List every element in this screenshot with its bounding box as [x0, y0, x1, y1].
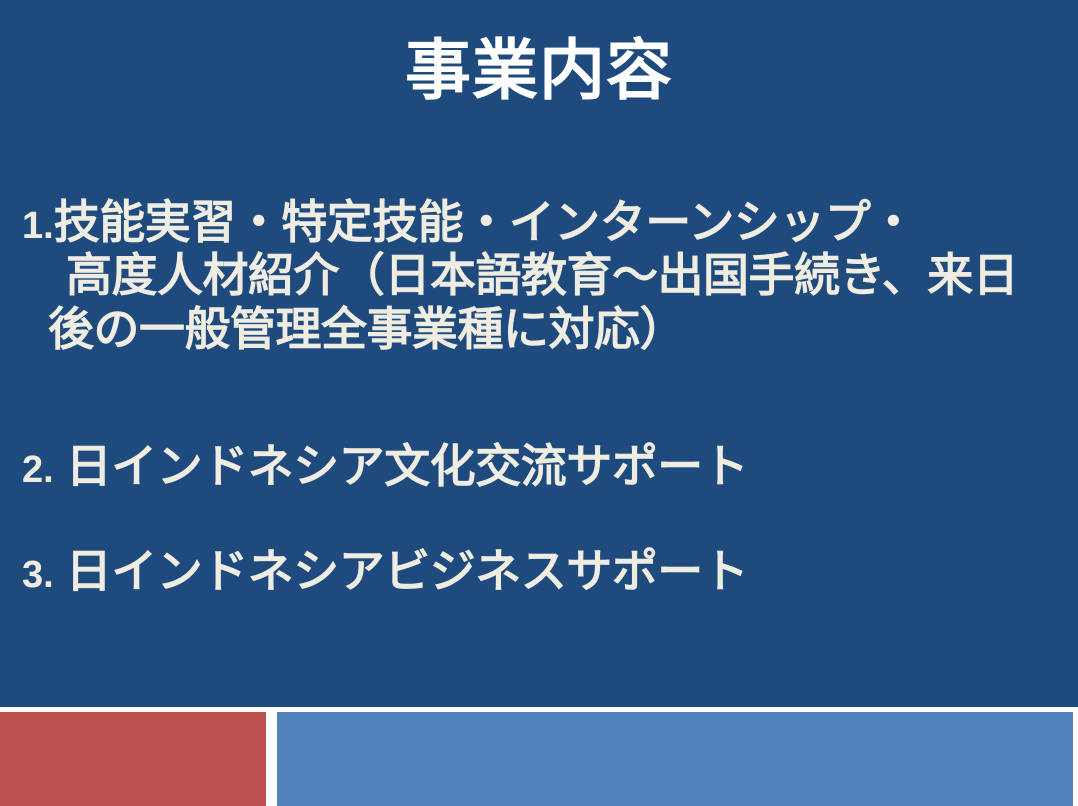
list-item-marker: 2. — [22, 449, 54, 491]
decor-bar-red — [0, 712, 266, 806]
slide-content-area: 事業内容 1.技能実習・特定技能・インターンシップ・ 高度人材紹介（日本語教育～… — [0, 0, 1078, 707]
list-item: 2.日インドネシア文化交流サポート — [22, 440, 748, 493]
list-item-line: 後の一般管理全事業種に対応） — [48, 303, 1062, 356]
list-item-marker: 3. — [22, 554, 54, 596]
page-title: 事業内容 — [0, 34, 1078, 107]
list-item: 1.技能実習・特定技能・インターンシップ・ 高度人材紹介（日本語教育～出国手続き… — [22, 196, 1062, 356]
list-item-text: 後の一般管理全事業種に対応） — [48, 303, 685, 355]
slide: 事業内容 1.技能実習・特定技能・インターンシップ・ 高度人材紹介（日本語教育～… — [0, 0, 1078, 806]
list-item-marker: 1. — [22, 205, 54, 247]
list-item: 3.日インドネシアビジネスサポート — [22, 545, 748, 598]
list-item-text: 高度人材紹介（日本語教育～出国手続き、来日 — [66, 249, 1018, 301]
list-item-line: 1.技能実習・特定技能・インターンシップ・ — [22, 196, 1062, 249]
decor-bar-blue — [277, 712, 1073, 806]
list-item-text: 日インドネシア文化交流サポート — [66, 440, 749, 492]
list-item-text: 技能実習・特定技能・インターンシップ・ — [54, 196, 916, 248]
list-item-text: 日インドネシアビジネスサポート — [66, 545, 749, 597]
list-item-line: 高度人材紹介（日本語教育～出国手続き、来日 — [66, 249, 1062, 302]
